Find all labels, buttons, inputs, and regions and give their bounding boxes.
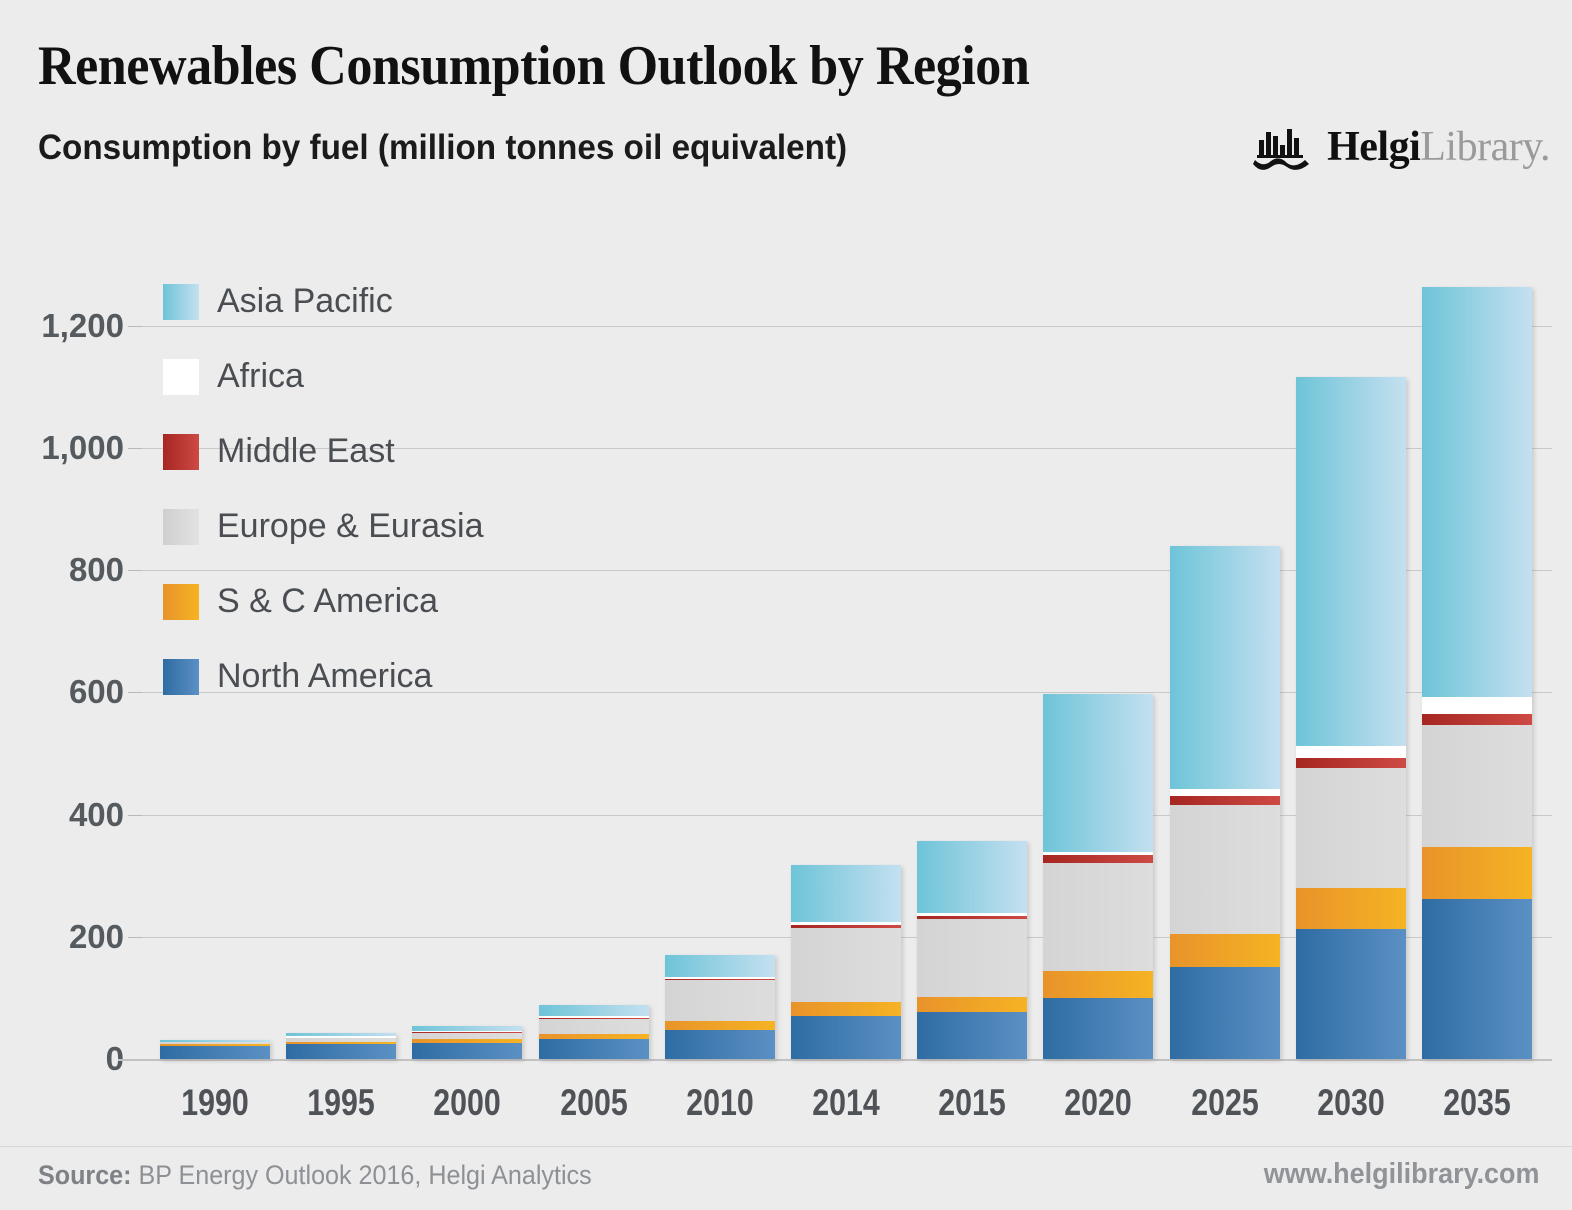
x-axis-label: 1995 <box>296 1082 386 1124</box>
bar-segment-na[interactable] <box>1043 998 1153 1059</box>
stacked-bar[interactable] <box>1043 694 1153 1059</box>
bar-segment-me[interactable] <box>1296 758 1406 768</box>
stacked-bar[interactable] <box>160 1040 270 1059</box>
bar-segment-ap[interactable] <box>1170 546 1280 789</box>
bar-segment-af[interactable] <box>1422 697 1532 714</box>
bar-segment-af[interactable] <box>1296 746 1406 758</box>
bar-segment-me[interactable] <box>1170 796 1280 805</box>
bar-segment-sc[interactable] <box>1296 888 1406 930</box>
source-label: Source: <box>38 1160 131 1190</box>
website-url: www.helgilibrary.com <box>1264 1158 1540 1191</box>
legend-label: Asia Pacific <box>217 282 393 321</box>
bar-segment-ap[interactable] <box>791 865 901 922</box>
bar-segment-ap[interactable] <box>665 955 775 977</box>
legend-label: Middle East <box>217 432 395 471</box>
stacked-bar[interactable] <box>1422 287 1532 1059</box>
bar-segment-na[interactable] <box>412 1043 522 1059</box>
bar-segment-na[interactable] <box>160 1046 270 1059</box>
bar-segment-ee[interactable] <box>1170 805 1280 933</box>
bar-segment-na[interactable] <box>1422 899 1532 1059</box>
bar-segment-sc[interactable] <box>917 997 1027 1012</box>
bar-segment-ee[interactable] <box>917 919 1027 997</box>
bar-segment-ee[interactable] <box>539 1019 649 1034</box>
bar-segment-sc[interactable] <box>1170 934 1280 967</box>
bar-segment-ee[interactable] <box>1043 863 1153 971</box>
x-axis-label: 2025 <box>1179 1082 1269 1124</box>
bar-segment-na[interactable] <box>917 1012 1027 1059</box>
chart-legend: Asia PacificAfricaMiddle EastEurope & Eu… <box>163 264 503 714</box>
legend-item-af[interactable]: Africa <box>163 339 503 414</box>
legend-label: North America <box>217 657 432 696</box>
bar-segment-ee[interactable] <box>1296 768 1406 888</box>
bar-segment-ap[interactable] <box>1296 377 1406 745</box>
bar-segment-ee[interactable] <box>1422 725 1532 847</box>
legend-label: S & C America <box>217 582 438 621</box>
bar-segment-sc[interactable] <box>791 1002 901 1017</box>
legend-swatch-me <box>163 434 199 470</box>
chart-page: Renewables Consumption Outlook by Region… <box>0 0 1572 1210</box>
bar-segment-na[interactable] <box>539 1039 649 1059</box>
stacked-bar[interactable] <box>1296 377 1406 1059</box>
bar-segment-na[interactable] <box>1170 967 1280 1059</box>
footer-divider <box>0 1146 1572 1147</box>
bar-segment-sc[interactable] <box>665 1021 775 1030</box>
bar-segment-ap[interactable] <box>1043 694 1153 852</box>
legend-swatch-na <box>163 659 199 695</box>
x-axis-label: 2005 <box>548 1082 638 1124</box>
x-axis-label: 2010 <box>675 1082 765 1124</box>
stacked-bar[interactable] <box>665 955 775 1059</box>
legend-item-ee[interactable]: Europe & Eurasia <box>163 489 503 564</box>
stacked-bar[interactable] <box>412 1026 522 1060</box>
x-axis-label: 1990 <box>170 1082 260 1124</box>
x-axis-label: 2035 <box>1432 1082 1522 1124</box>
bar-segment-na[interactable] <box>1296 929 1406 1059</box>
legend-swatch-sc <box>163 584 199 620</box>
source-text: BP Energy Outlook 2016, Helgi Analytics <box>131 1160 591 1190</box>
x-axis-label: 2014 <box>801 1082 891 1124</box>
legend-label: Africa <box>217 357 304 396</box>
legend-label: Europe & Eurasia <box>217 507 484 546</box>
legend-swatch-ee <box>163 509 199 545</box>
bar-segment-af[interactable] <box>1170 789 1280 796</box>
x-axis-label: 2000 <box>422 1082 512 1124</box>
legend-item-na[interactable]: North America <box>163 639 503 714</box>
bar-segment-ee[interactable] <box>665 980 775 1021</box>
bar-segment-ee[interactable] <box>791 928 901 1002</box>
legend-swatch-af <box>163 359 199 395</box>
bar-segment-sc[interactable] <box>1422 847 1532 899</box>
x-axis-label: 2030 <box>1306 1082 1396 1124</box>
bar-segment-sc[interactable] <box>1043 971 1153 998</box>
bar-segment-me[interactable] <box>1043 855 1153 863</box>
bar-segment-me[interactable] <box>1422 714 1532 725</box>
bar-segment-na[interactable] <box>286 1044 396 1059</box>
bar-segment-na[interactable] <box>665 1030 775 1059</box>
stacked-bar[interactable] <box>917 841 1027 1059</box>
x-axis-label: 2015 <box>927 1082 1017 1124</box>
bar-segment-na[interactable] <box>791 1016 901 1059</box>
stacked-bar[interactable] <box>539 1005 649 1059</box>
bar-segment-ap[interactable] <box>539 1005 649 1017</box>
legend-item-me[interactable]: Middle East <box>163 414 503 489</box>
bar-segment-ap[interactable] <box>1422 287 1532 696</box>
bar-segment-ap[interactable] <box>917 841 1027 913</box>
stacked-bar[interactable] <box>286 1033 396 1059</box>
legend-swatch-ap <box>163 284 199 320</box>
x-axis-label: 2020 <box>1053 1082 1143 1124</box>
legend-item-ap[interactable]: Asia Pacific <box>163 264 503 339</box>
stacked-bar[interactable] <box>1170 546 1280 1059</box>
legend-item-sc[interactable]: S & C America <box>163 564 503 639</box>
source-note: Source: BP Energy Outlook 2016, Helgi An… <box>38 1160 592 1191</box>
stacked-bar[interactable] <box>791 865 901 1059</box>
